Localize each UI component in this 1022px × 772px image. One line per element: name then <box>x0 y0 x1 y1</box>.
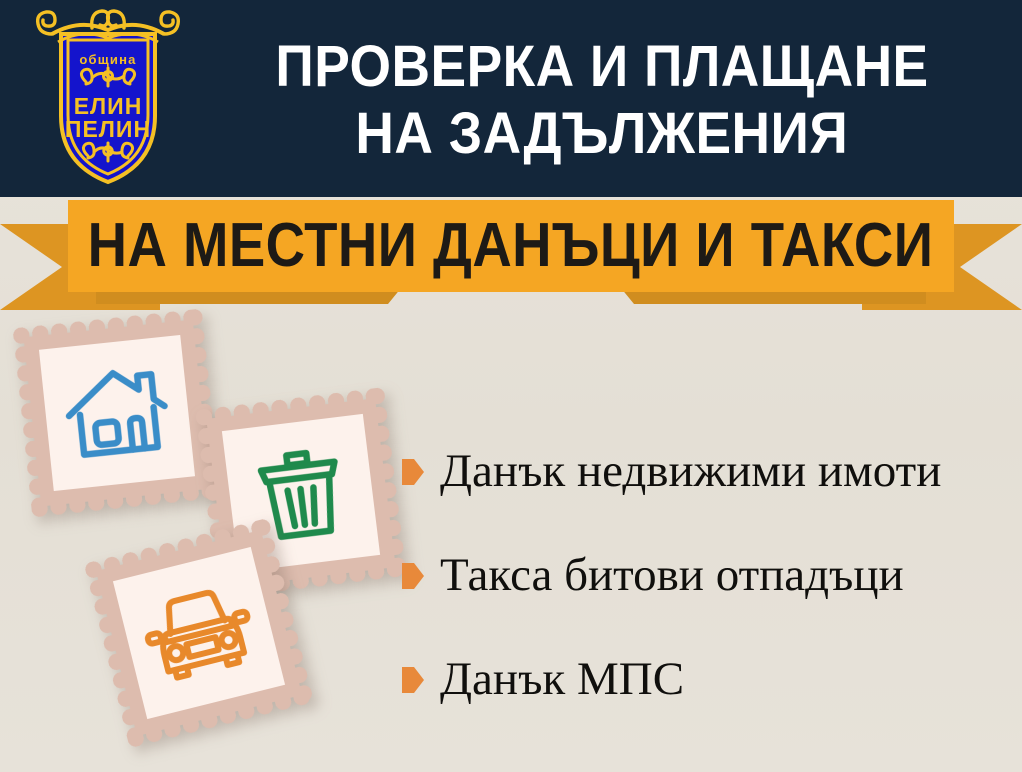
tax-type-list: Данък недвижими имоти Такса битови отпад… <box>402 420 1017 732</box>
title-line-2: НА ЗАДЪЛЖЕНИЯ <box>356 100 849 167</box>
list-item-label: Такса битови отпадъци <box>440 550 904 602</box>
header-bar: община ЕЛИН ПЕЛИН <box>0 0 1022 197</box>
list-item-label: Данък МПС <box>440 654 684 706</box>
car-icon <box>135 575 262 690</box>
subtitle-ribbon: НА МЕСТНИ ДАНЪЦИ И ТАКСИ <box>0 196 1022 316</box>
list-item-label: Данък недвижими имоти <box>440 446 941 498</box>
stamp-card-property <box>13 309 222 518</box>
arrow-bullet-icon <box>402 459 424 485</box>
arrow-bullet-icon <box>402 563 424 589</box>
arrow-bullet-icon <box>402 667 424 693</box>
stamp-card-face <box>39 335 195 491</box>
ribbon-label: НА МЕСТНИ ДАНЪЦИ И ТАКСИ <box>88 215 934 277</box>
crest-subtitle: община <box>79 52 136 67</box>
ribbon-banner: НА МЕСТНИ ДАНЪЦИ И ТАКСИ <box>68 200 954 292</box>
title-line-1: ПРОВЕРКА И ПЛАЩАНЕ <box>275 33 928 100</box>
poster-title: ПРОВЕРКА И ПЛАЩАНЕ НА ЗАДЪЛЖЕНИЯ <box>196 14 1008 186</box>
municipality-crest-logo: община ЕЛИН ПЕЛИН <box>28 4 188 189</box>
house-icon <box>58 358 176 469</box>
list-item[interactable]: Такса битови отпадъци <box>402 524 1017 628</box>
poster-canvas: община ЕЛИН ПЕЛИН <box>0 0 1022 772</box>
list-item[interactable]: Данък МПС <box>402 628 1017 732</box>
crest-name-line-2: ПЕЛИН <box>65 116 151 142</box>
list-item[interactable]: Данък недвижими имоти <box>402 420 1017 524</box>
